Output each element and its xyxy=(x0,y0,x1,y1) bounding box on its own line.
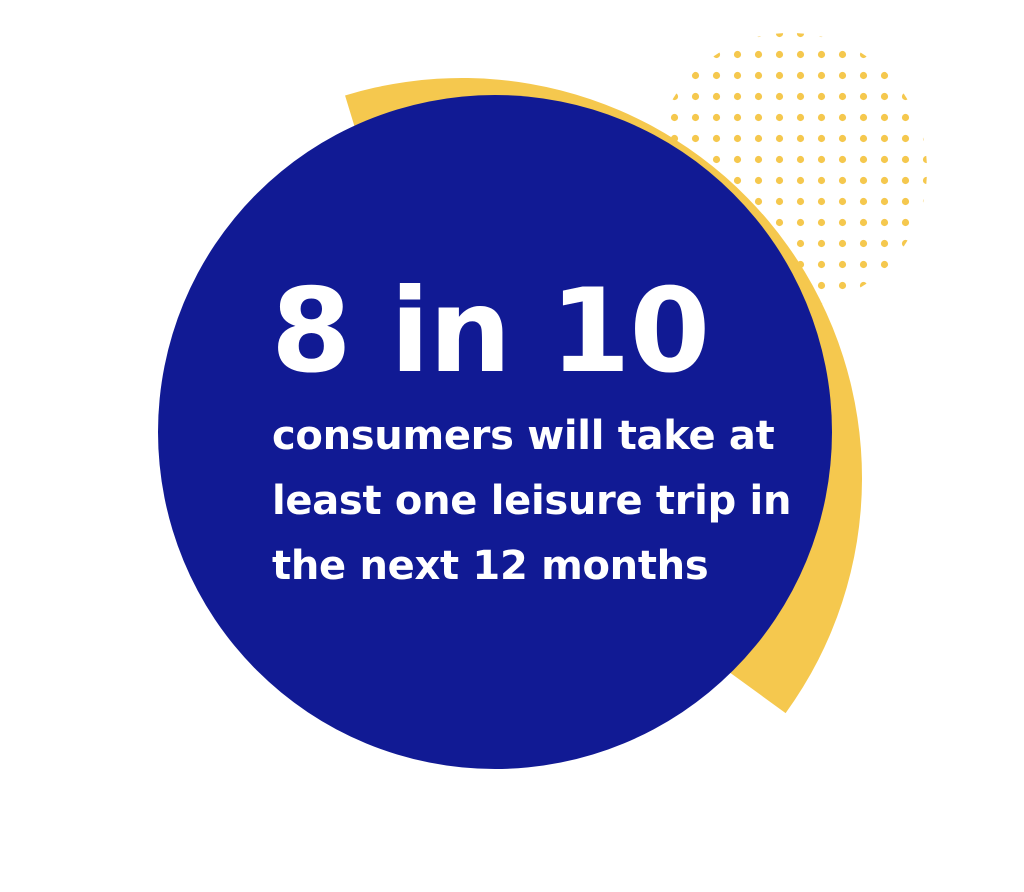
decorative-artwork xyxy=(0,0,1024,892)
infographic-canvas: 8 in 10 consumers will take at least one… xyxy=(0,0,1024,892)
navy-circle xyxy=(158,95,832,769)
